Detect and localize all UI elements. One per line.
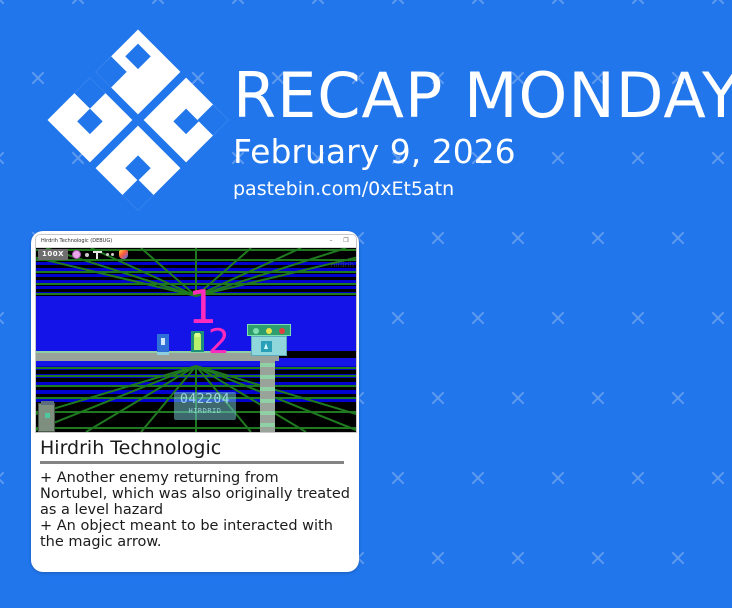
background-x-mark	[710, 310, 726, 326]
game-toolbar[interactable]: 100X	[36, 248, 356, 261]
wall-sign: 042204 HIRDRID	[174, 392, 236, 420]
background-x-mark	[590, 230, 606, 246]
background-x-mark	[510, 390, 526, 406]
recap-monday-diamond-logo	[47, 29, 229, 211]
background-x-mark	[590, 550, 606, 566]
background-x-mark	[0, 470, 6, 486]
background-x-mark	[550, 310, 566, 326]
page-title: RECAP MONDAY	[233, 62, 713, 130]
background-x-mark	[670, 550, 686, 566]
dots-tool-icon[interactable]	[106, 250, 115, 259]
background-x-mark	[710, 470, 726, 486]
background-x-mark	[510, 230, 526, 246]
machine-lamp-yellow	[266, 328, 272, 334]
background-x-mark	[470, 310, 486, 326]
background-x-mark	[0, 310, 6, 326]
interactive-machine[interactable]	[247, 324, 291, 356]
magnet-icon[interactable]	[72, 250, 81, 259]
marker-two-label: 2	[208, 325, 230, 359]
tee-tool-icon[interactable]	[93, 250, 102, 259]
minimize-button[interactable]: –	[326, 237, 336, 245]
blue-pickup-item[interactable]	[157, 334, 169, 355]
background-x-mark	[630, 310, 646, 326]
zoom-level-badge[interactable]: 100X	[38, 249, 68, 260]
poster-header: RECAP MONDAY February 9, 2026 pastebin.c…	[0, 0, 732, 230]
maximize-button[interactable]: ❐	[341, 237, 351, 245]
caption-bullet-1: + Another enemy returning from Nortubel,…	[40, 470, 350, 518]
pastebin-link[interactable]: pastebin.com/0xEt5atn	[233, 176, 713, 202]
background-x-mark	[390, 310, 406, 326]
machine-lamp-panel	[247, 324, 291, 336]
header-text-block: RECAP MONDAY February 9, 2026 pastebin.c…	[233, 62, 713, 202]
background-x-mark	[470, 470, 486, 486]
background-x-mark	[510, 550, 526, 566]
window-title: Hirdrih Technologic (DEBUG)	[41, 236, 112, 246]
background-x-mark	[670, 390, 686, 406]
caption-bullet-2: + An object meant to be interacted with …	[40, 518, 350, 550]
player-sprite[interactable]	[191, 331, 204, 352]
paint-bucket-icon[interactable]	[119, 250, 128, 259]
background-x-mark	[430, 390, 446, 406]
background-x-mark	[430, 550, 446, 566]
page-date: February 9, 2026	[233, 132, 713, 172]
caption-title: Hirdrih Technologic	[40, 436, 350, 460]
window-titlebar[interactable]: Hirdrih Technologic (DEBUG) – ❐	[36, 235, 356, 248]
background-x-mark	[670, 230, 686, 246]
caption-block: Hirdrih Technologic + Another enemy retu…	[31, 432, 359, 550]
canister-object[interactable]	[38, 403, 55, 432]
game-watermark: Hirdrih	[330, 261, 354, 269]
background-x-mark	[550, 470, 566, 486]
up-arrow-icon[interactable]	[261, 341, 272, 352]
machine-lamp-green	[253, 328, 259, 334]
machine-lamp-red	[279, 328, 285, 334]
game-window: Hirdrih Technologic (DEBUG) – ❐	[35, 234, 357, 433]
caption-divider	[40, 461, 344, 464]
background-x-mark	[590, 390, 606, 406]
dot-icon[interactable]	[85, 253, 89, 257]
game-viewport[interactable]: 1 2 042204 HIRDRID	[36, 248, 356, 432]
recap-monday-poster: RECAP MONDAY February 9, 2026 pastebin.c…	[0, 0, 732, 608]
background-x-mark	[430, 230, 446, 246]
sign-line-2: HIRDRID	[174, 407, 236, 416]
support-pillar	[260, 359, 275, 432]
entry-card: Hirdrih Technologic (DEBUG) – ❐	[31, 231, 359, 572]
background-x-mark	[390, 470, 406, 486]
background-x-mark	[630, 470, 646, 486]
sign-line-1: 042204	[174, 392, 236, 407]
